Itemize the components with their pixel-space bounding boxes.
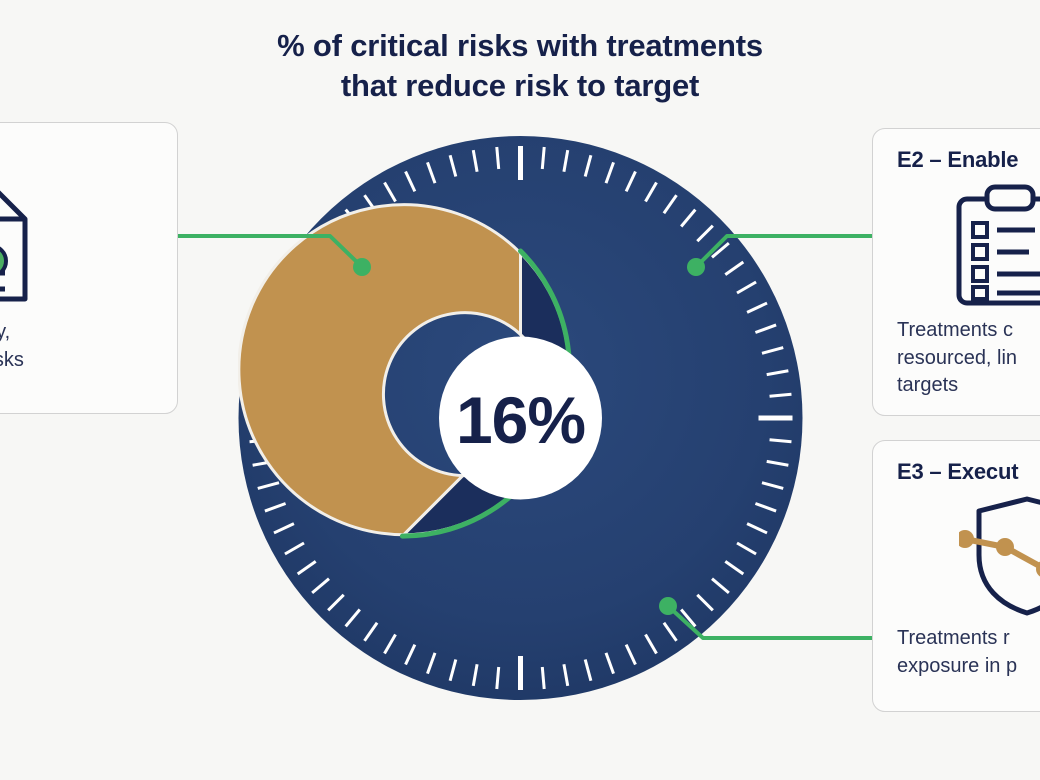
card-e3-title: E3 – Execut [897,459,1018,485]
connector-e2-dot [687,258,705,276]
connector-e3-dot [659,597,677,615]
connector-e3 [668,606,880,638]
connector-e1 [170,236,362,267]
card-e2-body-line-1: Treatments c [897,317,1017,345]
card-e2[interactable]: E2 – Enable Treatments c resourced, lin … [872,128,1040,416]
card-e2-body-line-3: targets [897,372,1017,400]
infographic-canvas: % of critical risks with treatments that… [0,0,1040,780]
shield-trend-icon [959,495,1040,617]
card-e2-body-line-2: resourced, lin [897,345,1017,373]
card-e1[interactable]: xists s to identify, manage risks [0,122,178,414]
clipboard-gear-icon [949,183,1040,311]
connector-e1-dot [353,258,371,276]
document-chart-icon [0,181,45,309]
card-e3-body-line-1: Treatments r [897,625,1017,653]
card-e2-title: E2 – Enable [897,147,1018,173]
card-e3-body-line-2: exposure in p [897,653,1017,681]
card-e1-body-line-2: manage risks [0,347,24,375]
card-e1-body: s to identify, manage risks [0,319,24,374]
card-e3[interactable]: E3 – Execut Treatments r exposure in p [872,440,1040,712]
connector-e2 [696,236,880,267]
card-e2-body: Treatments c resourced, lin targets [897,317,1017,400]
card-e1-body-line-1: s to identify, [0,319,24,347]
card-e3-body: Treatments r exposure in p [897,625,1017,680]
